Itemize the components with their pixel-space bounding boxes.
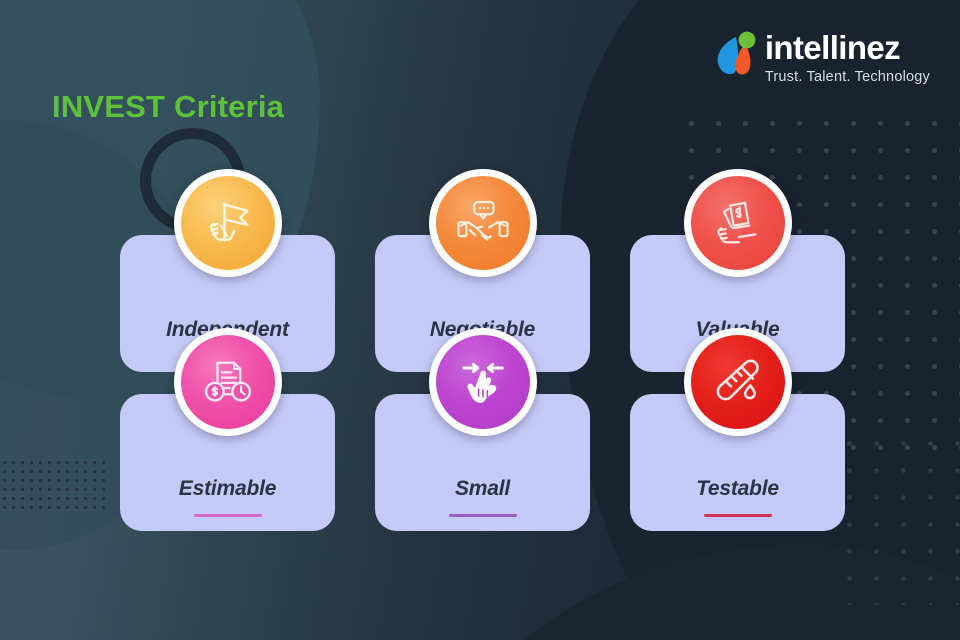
card-label: Small bbox=[455, 477, 510, 501]
dot-grid-bottom-left bbox=[0, 458, 108, 514]
badge-circle-small bbox=[436, 335, 530, 429]
hand-holding-money-icon bbox=[710, 195, 766, 251]
brand-logo: intellinez Trust. Talent. Technology bbox=[711, 28, 930, 85]
card-label: Testable bbox=[696, 477, 779, 501]
criteria-card-small[interactable]: Small bbox=[375, 394, 590, 531]
intellinez-mark-icon bbox=[711, 30, 763, 82]
criteria-row-bottom: Estimable bbox=[120, 394, 845, 531]
badge-small bbox=[429, 328, 537, 436]
badge-circle-independent bbox=[181, 176, 275, 270]
badge-circle-testable bbox=[691, 335, 785, 429]
dot-grid-right-lower bbox=[836, 430, 960, 605]
card-label: Estimable bbox=[179, 477, 276, 501]
badge-circle-valuable bbox=[691, 176, 785, 270]
infographic-canvas: INVEST Criteria intellinez Trust. Talent… bbox=[0, 0, 960, 640]
card-underline bbox=[704, 514, 772, 517]
card-underline bbox=[194, 514, 262, 517]
pinch-gesture-icon bbox=[455, 354, 511, 410]
criteria-card-estimable[interactable]: Estimable bbox=[120, 394, 335, 531]
handshake-chat-icon bbox=[455, 195, 511, 251]
badge-valuable bbox=[684, 169, 792, 277]
test-tube-drop-icon bbox=[710, 354, 766, 410]
page-title: INVEST Criteria bbox=[52, 89, 284, 125]
logo-brand-text: intellinez bbox=[765, 31, 930, 64]
logo-tagline-text: Trust. Talent. Technology bbox=[765, 70, 930, 85]
hand-holding-flag-icon bbox=[200, 195, 256, 251]
document-cost-time-icon bbox=[200, 354, 256, 410]
badge-circle-estimable bbox=[181, 335, 275, 429]
card-underline bbox=[449, 514, 517, 517]
badge-testable bbox=[684, 328, 792, 436]
badge-negotiable bbox=[429, 169, 537, 277]
badge-independent bbox=[174, 169, 282, 277]
badge-circle-negotiable bbox=[436, 176, 530, 270]
invest-criteria-grid: Independent bbox=[120, 235, 845, 531]
badge-estimable bbox=[174, 328, 282, 436]
criteria-card-testable[interactable]: Testable bbox=[630, 394, 845, 531]
